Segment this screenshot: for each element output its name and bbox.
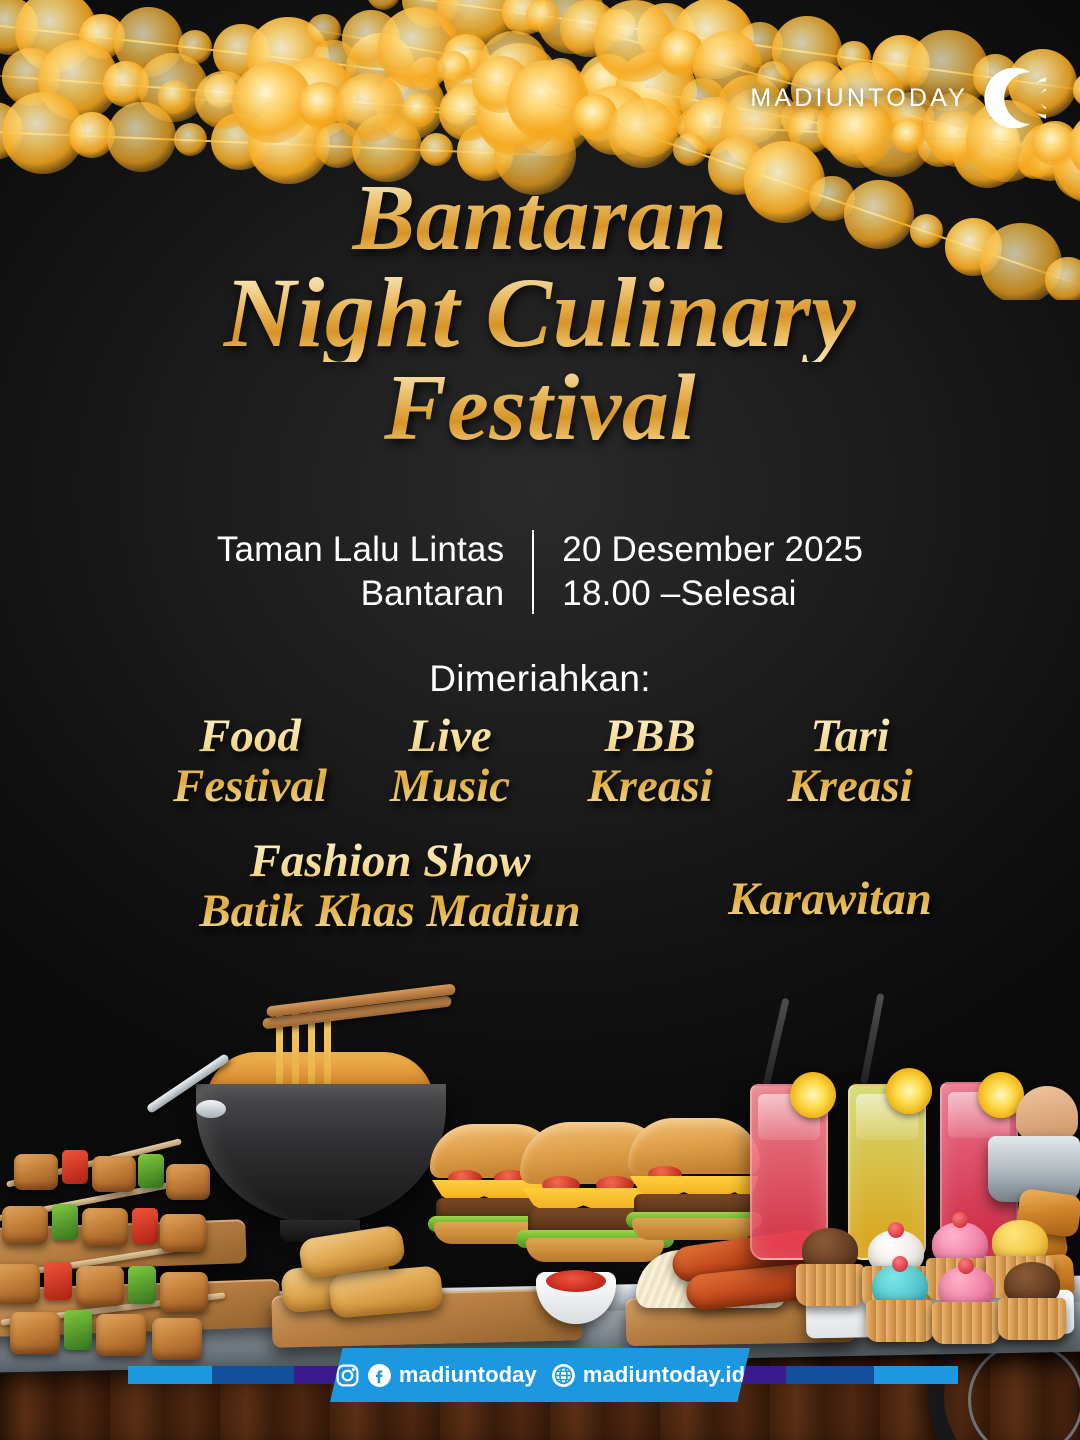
satay-pepper-green [52, 1204, 78, 1240]
light-bulb [307, 14, 341, 48]
title-line-3: Festival [0, 362, 1080, 454]
satay-meat [152, 1318, 202, 1360]
social-footer-bar: madiuntoday madiuntoday.id [0, 1358, 1080, 1392]
satay-meat [10, 1312, 60, 1354]
brand-logo-text: MADIUNTODAY [750, 84, 968, 113]
lineup-item-line-2: Kreasi [550, 762, 750, 812]
title-line-2: Night Culinary [0, 264, 1080, 362]
light-bulb [608, 98, 678, 168]
lineup-item-pbb-kreasi: PBB Kreasi [550, 712, 750, 812]
lineup-item-line-2: Kreasi [750, 762, 950, 812]
website-group[interactable]: madiuntoday.id [551, 1362, 745, 1388]
event-date: 20 Desember 2025 [562, 528, 863, 572]
globe-icon[interactable] [551, 1363, 576, 1388]
lineup-item-food-festival: Food Festival [150, 712, 350, 812]
light-bulb [174, 123, 208, 157]
light-bulb [526, 0, 560, 33]
footer-strip [128, 1366, 216, 1384]
satay-pepper-red [44, 1262, 72, 1300]
instagram-icon[interactable] [335, 1363, 360, 1388]
poster-title: Bantaran Night Culinary Festival [0, 172, 1080, 454]
event-time: 18.00 –Selesai [562, 572, 863, 616]
light-bulb [158, 80, 192, 114]
website-text: madiuntoday.id [583, 1362, 745, 1388]
noodle-bowl [196, 1084, 446, 1224]
lemon-slice [790, 1072, 836, 1118]
lineup-item-line-1: Food [150, 712, 350, 762]
satay-pepper-green [138, 1154, 164, 1188]
satay-meat [0, 1264, 40, 1304]
berry-topping [952, 1212, 968, 1228]
social-handle-group[interactable]: madiuntoday [335, 1362, 537, 1388]
bun-bottom [526, 1238, 664, 1262]
lineup-item-line-2: Music [350, 762, 550, 812]
footer-strip [212, 1366, 298, 1384]
bun-top [628, 1118, 760, 1174]
satay-meat [82, 1208, 128, 1246]
satay-pepper-green [64, 1310, 92, 1350]
satay-meat [166, 1164, 210, 1200]
satay-meat [2, 1206, 48, 1244]
lineup-row-2: Fashion Show Batik Khas Madiun Karawitan [110, 836, 990, 937]
berry-topping [892, 1256, 908, 1272]
light-bulb [367, 0, 401, 10]
footer-banner: madiuntoday madiuntoday.id [330, 1348, 750, 1402]
drinking-straw [762, 998, 790, 1089]
brand-logo: MADIUNTODAY [750, 62, 1046, 134]
venue-line-2: Bantaran [217, 572, 504, 616]
cupcake-liner [932, 1302, 1000, 1344]
cupcake-liner [866, 1300, 934, 1342]
berry-topping [888, 1222, 904, 1238]
lineup-item-line-1: PBB [550, 712, 750, 762]
lemon-slice [886, 1068, 932, 1114]
satay-meat [92, 1156, 136, 1192]
lineup-item-line-2: Festival [150, 762, 350, 812]
satay-pepper-green [128, 1266, 156, 1304]
event-poster: MADIUNTODAY Bantaran Night Culinary Fest… [0, 0, 1080, 1440]
lineup-item-line-1: Live [350, 712, 550, 762]
satay-meat [14, 1154, 58, 1190]
light-bulb [402, 93, 436, 127]
light-bulb [673, 133, 707, 167]
satay-meat [96, 1314, 146, 1356]
satay-meat [76, 1266, 124, 1306]
lineup-label: Dimeriahkan: [0, 658, 1080, 700]
social-handle-text: madiuntoday [399, 1362, 537, 1388]
cupcake-liner [998, 1298, 1066, 1340]
lineup-item-live-music: Live Music [350, 712, 550, 812]
lineup-item-line-1: Tari [750, 712, 950, 762]
satay-pepper-red [132, 1208, 158, 1244]
lineup-item-karawitan: Karawitan [670, 836, 990, 926]
berry-topping [958, 1258, 974, 1274]
title-line-1: Bantaran [0, 172, 1080, 264]
lineup-item-fashion-show: Fashion Show Batik Khas Madiun [110, 836, 670, 937]
drinking-straw [860, 993, 884, 1085]
light-bulb [437, 51, 471, 85]
satay-pepper-red [62, 1150, 88, 1184]
crescent-swoosh-icon [974, 62, 1046, 134]
cupcake-liner [796, 1264, 864, 1306]
satay-meat [160, 1272, 208, 1312]
lineup-item-line-1: Fashion Show [110, 836, 670, 886]
serving-spoon-bowl [196, 1100, 226, 1118]
event-details: Taman Lalu Lintas Bantaran 20 Desember 2… [0, 528, 1080, 616]
sauce [546, 1270, 606, 1292]
lineup-item-tari-kreasi: Tari Kreasi [750, 712, 950, 812]
light-bulb [420, 133, 454, 167]
satay-meat [160, 1214, 206, 1252]
hand [1016, 1086, 1078, 1140]
facebook-icon[interactable] [367, 1363, 392, 1388]
footer-strip [874, 1366, 958, 1384]
venue-line-1: Taman Lalu Lintas [217, 528, 504, 572]
datetime-block: 20 Desember 2025 18.00 –Selesai [534, 528, 863, 616]
bun-bottom [632, 1218, 756, 1240]
lineup-row-1: Food Festival Live Music PBB Kreasi Tari… [150, 712, 950, 812]
light-bulb [335, 73, 405, 143]
footer-strip [786, 1366, 878, 1384]
venue-block: Taman Lalu Lintas Bantaran [217, 528, 532, 616]
light-bulb [107, 102, 177, 172]
